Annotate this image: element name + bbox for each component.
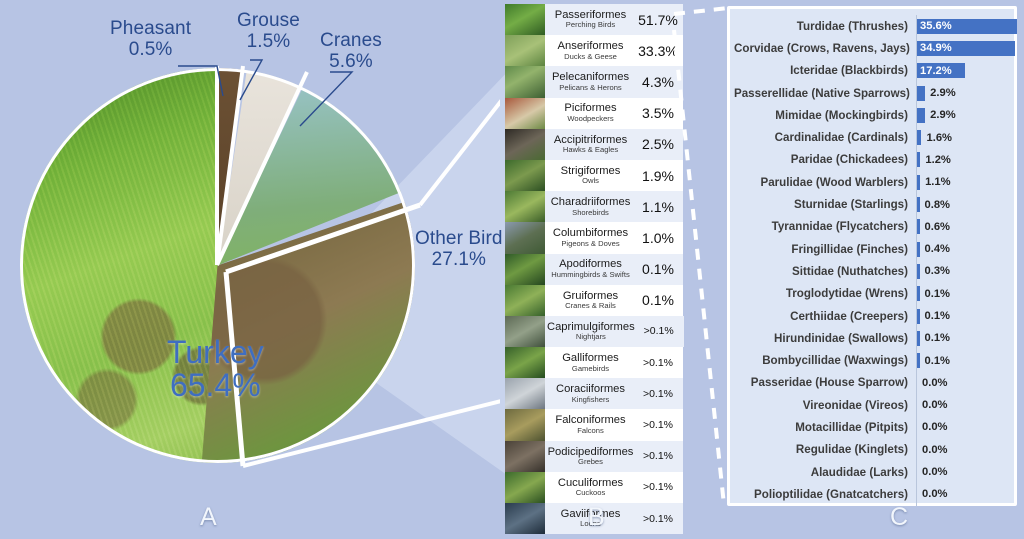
family-bar-track: 2.9% <box>916 104 1006 126</box>
order-row-body: StrigiformesOwls1.9% <box>545 160 683 191</box>
family-value-label: 35.6% <box>917 20 952 32</box>
family-bar <box>917 108 925 123</box>
family-value-label: 0.4% <box>920 243 951 255</box>
family-value-label: 0.0% <box>917 377 948 389</box>
bird-photo-thumbnail <box>505 222 545 253</box>
family-row[interactable]: Polioptilidae (Gnatcatchers)0.0% <box>734 483 1006 505</box>
family-name: Passeridae (House Sparrow) <box>734 376 916 389</box>
family-row[interactable]: Vireonidae (Vireos)0.0% <box>734 394 1006 416</box>
order-row[interactable]: PodicipediformesGrebes>0.1% <box>505 441 683 472</box>
family-bar <box>917 86 925 101</box>
order-row[interactable]: PelecaniformesPelicans & Herons4.3% <box>505 66 683 97</box>
order-scientific-name: Anseriformes <box>547 41 634 53</box>
bird-photo-thumbnail <box>505 472 545 503</box>
family-name: Corvidae (Crows, Ravens, Jays) <box>734 42 916 55</box>
order-row-body: CaprimulgiformesNightjars>0.1% <box>545 316 684 347</box>
order-common-name: Ducks & Geese <box>547 53 634 61</box>
family-value-label: 1.2% <box>920 154 951 166</box>
order-row-body: AccipitriformesHawks & Eagles2.5% <box>545 129 683 160</box>
family-name: Icteridae (Blackbirds) <box>734 64 916 77</box>
order-row-body: PasseriformesPerching Birds51.7% <box>545 4 683 35</box>
family-value-label: 0.1% <box>920 332 951 344</box>
family-row[interactable]: Turdidae (Thrushes)35.6% <box>734 15 1006 37</box>
order-label-group: PodicipediformesGrebes <box>545 447 636 466</box>
order-label-group: CharadriiformesShorebirds <box>545 197 636 216</box>
family-row[interactable]: Hirundinidae (Swallows)0.1% <box>734 327 1006 349</box>
bird-photo-thumbnail <box>505 347 545 378</box>
family-name: Fringillidae (Finches) <box>734 243 916 256</box>
family-name: Passerellidae (Native Sparrows) <box>734 87 916 100</box>
order-row[interactable]: CoraciiformesKingfishers>0.1% <box>505 378 683 409</box>
family-bar-track: 0.0% <box>916 416 1006 438</box>
order-row-body: GaviiformesLoons>0.1% <box>545 503 683 534</box>
bird-photo-thumbnail <box>505 35 545 66</box>
family-name: Hirundinidae (Swallows) <box>734 332 916 345</box>
family-name: Polioptilidae (Gnatcatchers) <box>734 488 916 501</box>
pie-label-cranes: Cranes 5.6% <box>320 30 382 73</box>
bird-photo-thumbnail <box>505 409 545 440</box>
family-row[interactable]: Parulidae (Wood Warblers)1.1% <box>734 171 1006 193</box>
family-bar-track: 0.8% <box>916 193 1006 215</box>
order-common-name: Hummingbirds & Swifts <box>547 271 634 279</box>
order-label-group: PiciformesWoodpeckers <box>545 103 636 122</box>
bird-photo-thumbnail <box>505 66 545 97</box>
pie-label-other-bird: Other Bird 27.1% <box>415 228 503 271</box>
family-value-label: 0.3% <box>920 265 951 277</box>
family-value-label: 0.0% <box>917 488 948 500</box>
order-label-group: ApodiformesHummingbirds & Swifts <box>545 259 636 278</box>
panel-letter-a: A <box>200 503 217 532</box>
order-scientific-name: Charadriiformes <box>547 197 634 209</box>
family-value-label: 0.8% <box>920 199 951 211</box>
family-bar-track: 17.2% <box>916 60 1006 82</box>
order-row[interactable]: PasseriformesPerching Birds51.7% <box>505 4 683 35</box>
order-row[interactable]: CaprimulgiformesNightjars>0.1% <box>505 316 683 347</box>
family-bar-track: 0.1% <box>916 349 1006 371</box>
family-row[interactable]: Regulidae (Kinglets)0.0% <box>734 439 1006 461</box>
order-row[interactable]: StrigiformesOwls1.9% <box>505 160 683 191</box>
bird-photo-thumbnail <box>505 285 545 316</box>
family-value-label: 34.9% <box>917 42 952 54</box>
family-row[interactable]: Passerellidae (Native Sparrows)2.9% <box>734 82 1006 104</box>
family-row[interactable]: Bombycillidae (Waxwings)0.1% <box>734 349 1006 371</box>
order-row[interactable]: AnseriformesDucks & Geese33.3% <box>505 35 683 66</box>
order-label-group: StrigiformesOwls <box>545 166 636 185</box>
family-name: Troglodytidae (Wrens) <box>734 287 916 300</box>
bird-photo-thumbnail <box>505 98 545 129</box>
order-row-body: PodicipediformesGrebes>0.1% <box>545 441 683 472</box>
panel-b-order-table: PasseriformesPerching Birds51.7%Anserifo… <box>505 4 683 504</box>
order-row-body: CuculiformesCuckoos>0.1% <box>545 472 683 503</box>
order-label-group: ColumbiformesPigeons & Doves <box>545 228 636 247</box>
family-bar-track: 0.0% <box>916 439 1006 461</box>
family-name: Bombycillidae (Waxwings) <box>734 354 916 367</box>
family-value-label: 0.0% <box>917 444 948 456</box>
order-scientific-name: Galliformes <box>547 353 634 365</box>
order-row-body: PiciformesWoodpeckers3.5% <box>545 98 683 129</box>
family-bar-track: 0.0% <box>916 461 1006 483</box>
order-common-name: Kingfishers <box>547 396 634 404</box>
family-name: Mimidae (Mockingbirds) <box>734 109 916 122</box>
family-value-label: 0.1% <box>920 288 951 300</box>
family-value-label: 0.0% <box>917 399 948 411</box>
family-bar-track: 35.6% <box>916 15 1017 37</box>
order-common-name: Shorebirds <box>547 209 634 217</box>
family-value-label: 1.6% <box>921 132 952 144</box>
pie-label-pheasant: Pheasant 0.5% <box>110 18 191 61</box>
order-row-body: AnseriformesDucks & Geese33.3% <box>545 35 683 66</box>
family-name: Paridae (Chickadees) <box>734 153 916 166</box>
family-bar-track: 1.2% <box>916 149 1006 171</box>
family-row[interactable]: Troglodytidae (Wrens)0.1% <box>734 283 1006 305</box>
bird-photo-thumbnail <box>505 129 545 160</box>
order-common-name: Cranes & Rails <box>547 302 634 310</box>
order-label-group: GruiformesCranes & Rails <box>545 291 636 310</box>
order-common-name: Falcons <box>547 427 634 435</box>
family-value-label: 1.1% <box>920 176 951 188</box>
panel-a-pie-chart: Pheasant 0.5% Grouse 1.5% Cranes 5.6% Ot… <box>0 0 500 539</box>
family-bar-track: 0.3% <box>916 260 1006 282</box>
bird-photo-thumbnail <box>505 4 545 35</box>
family-bar-track: 0.1% <box>916 283 1006 305</box>
bird-photo-thumbnail <box>505 191 545 222</box>
bird-photo-thumbnail <box>505 316 545 347</box>
family-row[interactable]: Fringillidae (Finches)0.4% <box>734 238 1006 260</box>
order-row[interactable]: CharadriiformesShorebirds1.1% <box>505 191 683 222</box>
family-value-label: 0.1% <box>920 310 951 322</box>
family-name: Cardinalidae (Cardinals) <box>734 131 916 144</box>
order-common-name: Hawks & Eagles <box>547 146 634 154</box>
family-bar: 35.6% <box>917 19 1017 34</box>
family-bar-track: 2.9% <box>916 82 1006 104</box>
family-row[interactable]: Motacillidae (Pitpits)0.0% <box>734 416 1006 438</box>
family-bar-track: 1.1% <box>916 171 1006 193</box>
family-bar: 17.2% <box>917 63 965 78</box>
order-label-group: AnseriformesDucks & Geese <box>545 41 636 60</box>
order-scientific-name: Coraciiformes <box>547 384 634 396</box>
order-common-name: Owls <box>547 177 634 185</box>
order-row-body: ColumbiformesPigeons & Doves1.0% <box>545 222 683 253</box>
family-name: Sittidae (Nuthatches) <box>734 265 916 278</box>
family-row[interactable]: Sittidae (Nuthatches)0.3% <box>734 260 1006 282</box>
order-label-group: CaprimulgiformesNightjars <box>545 322 637 341</box>
family-name: Turdidae (Thrushes) <box>734 20 916 33</box>
panel-letter-b: B <box>588 503 605 532</box>
family-row[interactable]: Certhiidae (Creepers)0.1% <box>734 305 1006 327</box>
order-label-group: PelecaniformesPelicans & Herons <box>545 72 636 91</box>
order-row[interactable]: CuculiformesCuckoos>0.1% <box>505 472 683 503</box>
bird-photo-thumbnail <box>505 503 545 534</box>
family-value-label: 2.9% <box>925 109 956 121</box>
order-label-group: PasseriformesPerching Birds <box>545 10 636 29</box>
order-common-name: Pigeons & Doves <box>547 240 634 248</box>
family-name: Alaudidae (Larks) <box>734 466 916 479</box>
order-common-name: Woodpeckers <box>547 115 634 123</box>
family-value-label: 0.1% <box>920 355 951 367</box>
family-name: Certhiidae (Creepers) <box>734 310 916 323</box>
order-common-name: Cuckoos <box>547 489 634 497</box>
order-common-name: Grebes <box>547 458 634 466</box>
order-row-body: PelecaniformesPelicans & Herons4.3% <box>545 66 683 97</box>
family-name: Tyrannidae (Flycatchers) <box>734 220 916 233</box>
order-row[interactable]: GalliformesGamebirds>0.1% <box>505 347 683 378</box>
family-row[interactable]: Passeridae (House Sparrow)0.0% <box>734 372 1006 394</box>
family-name: Regulidae (Kinglets) <box>734 443 916 456</box>
dashed-connector-b-to-c <box>672 0 732 520</box>
order-label-group: GalliformesGamebirds <box>545 353 636 372</box>
order-row-body: CoraciiformesKingfishers>0.1% <box>545 378 683 409</box>
order-common-name: Perching Birds <box>547 21 634 29</box>
order-row[interactable]: AccipitriformesHawks & Eagles2.5% <box>505 129 683 160</box>
bird-photo-thumbnail <box>505 441 545 472</box>
family-row[interactable]: Icteridae (Blackbirds)17.2% <box>734 60 1006 82</box>
order-row-body: CharadriiformesShorebirds1.1% <box>545 191 683 222</box>
order-label-group: FalconiformesFalcons <box>545 415 636 434</box>
order-row[interactable]: ApodiformesHummingbirds & Swifts0.1% <box>505 254 683 285</box>
order-common-name: Pelicans & Herons <box>547 84 634 92</box>
family-bar-track: 34.9% <box>916 37 1015 59</box>
family-name: Motacillidae (Pitpits) <box>734 421 916 434</box>
order-row-body: GalliformesGamebirds>0.1% <box>545 347 683 378</box>
order-label-group: CoraciiformesKingfishers <box>545 384 636 403</box>
family-bar-track: 0.0% <box>916 372 1006 394</box>
order-common-name: Gamebirds <box>547 365 634 373</box>
order-row[interactable]: FalconiformesFalcons>0.1% <box>505 409 683 440</box>
panel-c-family-bars: Turdidae (Thrushes)35.6%Corvidae (Crows,… <box>727 6 1017 506</box>
order-row-body: FalconiformesFalcons>0.1% <box>545 409 683 440</box>
family-value-label: 0.0% <box>917 421 948 433</box>
family-bar-track: 0.4% <box>916 238 1006 260</box>
family-row[interactable]: Paridae (Chickadees)1.2% <box>734 149 1006 171</box>
bird-photo-thumbnail <box>505 378 545 409</box>
family-row[interactable]: Sturnidae (Starlings)0.8% <box>734 193 1006 215</box>
bird-photo-thumbnail <box>505 160 545 191</box>
order-label-group: CuculiformesCuckoos <box>545 478 636 497</box>
family-name: Parulidae (Wood Warblers) <box>734 176 916 189</box>
family-bar-track: 0.0% <box>916 394 1006 416</box>
family-value-label: 17.2% <box>917 65 952 77</box>
order-row-body: GruiformesCranes & Rails0.1% <box>545 285 683 316</box>
family-bar-track: 1.6% <box>916 126 1006 148</box>
family-bar-track: 0.0% <box>916 483 1006 505</box>
family-row[interactable]: Cardinalidae (Cardinals)1.6% <box>734 126 1006 148</box>
family-bar: 34.9% <box>917 41 1015 56</box>
family-row[interactable]: Alaudidae (Larks)0.0% <box>734 461 1006 483</box>
family-row[interactable]: Tyrannidae (Flycatchers)0.6% <box>734 216 1006 238</box>
family-bar-track: 0.6% <box>916 216 1006 238</box>
family-name: Vireonidae (Vireos) <box>734 399 916 412</box>
family-name: Sturnidae (Starlings) <box>734 198 916 211</box>
figure-root: Pheasant 0.5% Grouse 1.5% Cranes 5.6% Ot… <box>0 0 1024 539</box>
order-row[interactable]: ColumbiformesPigeons & Doves1.0% <box>505 222 683 253</box>
family-row[interactable]: Corvidae (Crows, Ravens, Jays)34.9% <box>734 37 1006 59</box>
order-row[interactable]: PiciformesWoodpeckers3.5% <box>505 98 683 129</box>
family-value-label: 0.6% <box>920 221 951 233</box>
family-row[interactable]: Mimidae (Mockingbirds)2.9% <box>734 104 1006 126</box>
order-label-group: AccipitriformesHawks & Eagles <box>545 135 636 154</box>
pie-label-grouse: Grouse 1.5% <box>237 10 300 53</box>
order-row[interactable]: GruiformesCranes & Rails0.1% <box>505 285 683 316</box>
bird-photo-thumbnail <box>505 254 545 285</box>
family-bar-track: 0.1% <box>916 327 1006 349</box>
family-bar-track: 0.1% <box>916 305 1006 327</box>
order-common-name: Nightjars <box>547 333 635 341</box>
pie-label-turkey: Turkey 65.4% <box>167 336 264 401</box>
family-value-label: 0.0% <box>917 466 948 478</box>
panel-letter-c: C <box>890 503 908 532</box>
family-value-label: 2.9% <box>925 87 956 99</box>
order-row-body: ApodiformesHummingbirds & Swifts0.1% <box>545 254 683 285</box>
